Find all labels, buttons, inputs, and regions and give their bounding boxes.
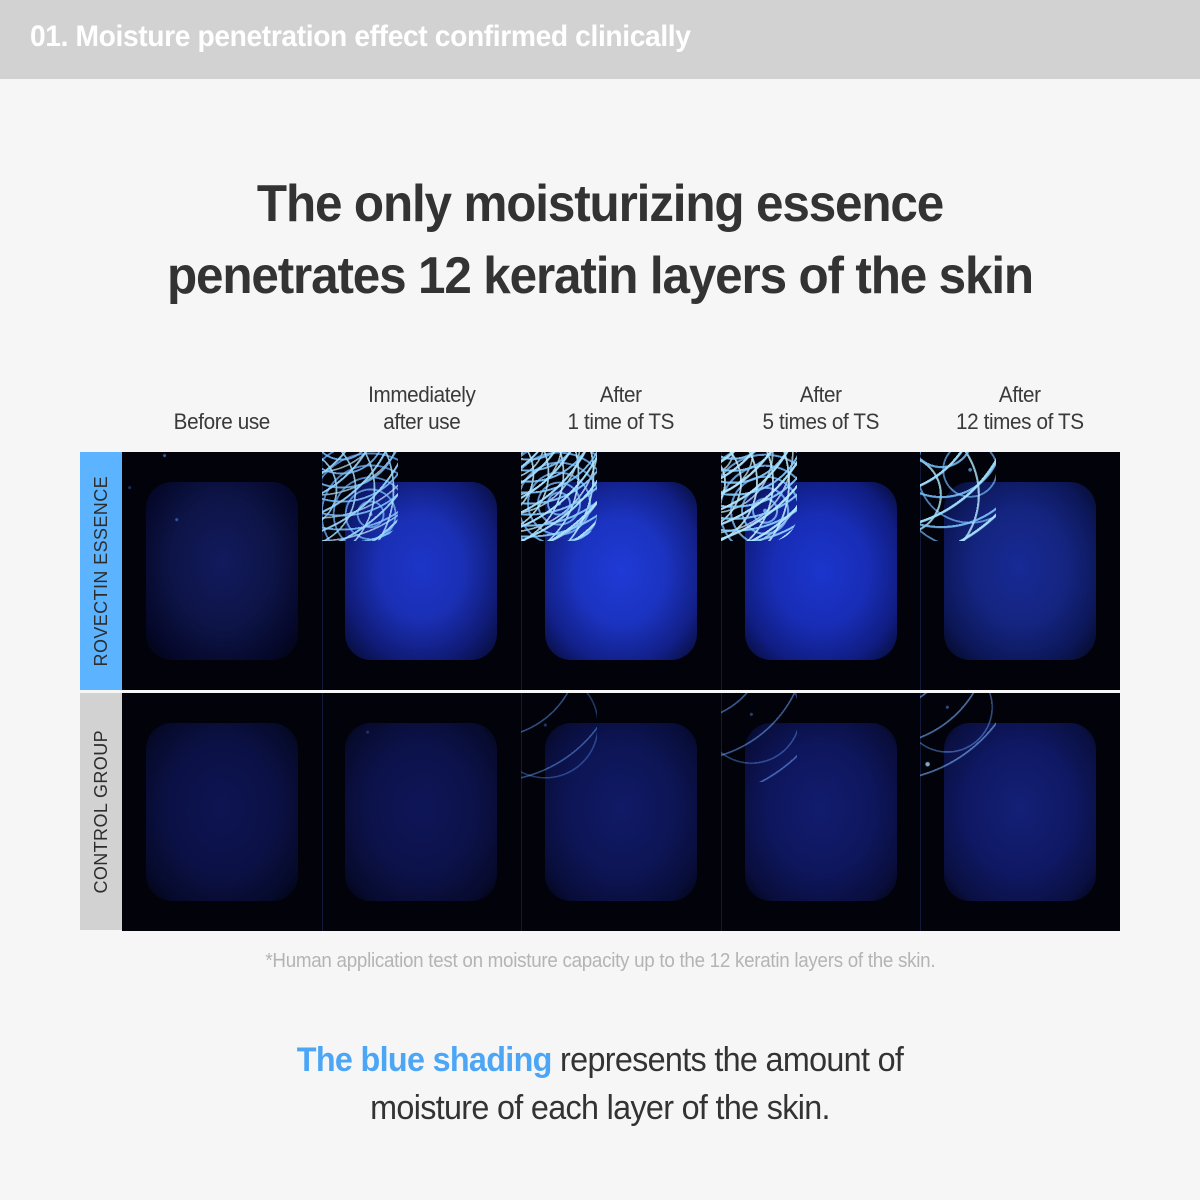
caption-rest: represents the amount of <box>552 1041 903 1079</box>
image-grid <box>122 452 1120 930</box>
fluorescence-speckles <box>521 452 597 541</box>
fluorescence-speckles <box>521 693 597 782</box>
footnote: *Human application test on moisture capa… <box>0 950 1200 973</box>
column-header-immediately-after-use: Immediately after use <box>322 375 522 435</box>
row-label-rovectin-essence: ROVECTIN ESSENCE <box>80 452 122 690</box>
sample-cell <box>521 693 721 931</box>
sample-cell <box>122 452 322 690</box>
column-header-line-1: Immediately <box>328 381 516 408</box>
sample-cell <box>721 693 921 931</box>
fluorescence-speckles <box>721 452 797 541</box>
column-header-after-1-time: After 1 time of TS <box>521 375 721 435</box>
row-label-text: ROVECTIN ESSENCE <box>91 476 112 666</box>
column-header-after-5-times: After 5 times of TS <box>721 375 921 435</box>
fluorescence-image-panel: ROVECTIN ESSENCE CONTROL GROUP <box>80 452 1120 930</box>
sample-cell <box>322 693 522 931</box>
sample-cell <box>122 693 322 931</box>
column-header-line-1: After <box>727 381 915 408</box>
fluorescence-speckles <box>721 693 797 782</box>
headline: The only moisturizing essence penetrates… <box>0 168 1200 312</box>
image-row-rovectin-essence <box>122 452 1120 690</box>
fluorescence-speckles <box>322 693 398 782</box>
row-label-control-group: CONTROL GROUP <box>80 693 122 930</box>
column-header-before-use: Before use <box>122 375 322 435</box>
column-header-row: Before use Immediately after use After 1… <box>122 375 1120 435</box>
fluorescence-speckles <box>920 452 996 541</box>
footnote-text: *Human application test on moisture capa… <box>265 950 935 973</box>
caption-line-2: moisture of each layer of the skin. <box>30 1084 1170 1132</box>
row-label-text: CONTROL GROUP <box>91 730 112 894</box>
column-header-line-1: After <box>527 381 715 408</box>
column-header-line-2: 1 time of TS <box>527 408 715 435</box>
page-title: 01. Moisture penetration effect confirme… <box>30 20 691 54</box>
column-header-after-12-times: After 12 times of TS <box>920 375 1120 435</box>
sample-cell <box>920 693 1120 931</box>
column-header-line-2: 12 times of TS <box>926 408 1114 435</box>
sample-cell <box>920 452 1120 690</box>
caption-line-1: The blue shading represents the amount o… <box>30 1036 1170 1084</box>
caption: The blue shading represents the amount o… <box>0 1036 1200 1132</box>
column-header-line-2: after use <box>328 408 516 435</box>
image-row-control-group <box>122 693 1120 931</box>
sample-cell <box>322 452 522 690</box>
headline-line-2: penetrates 12 keratin layers of the skin <box>30 240 1170 312</box>
headline-line-1: The only moisturizing essence <box>30 168 1170 240</box>
column-header-line-1: After <box>926 381 1114 408</box>
fluorescence-speckles <box>122 452 198 541</box>
fluorescence-speckles <box>920 693 996 782</box>
sample-cell <box>721 452 921 690</box>
sample-cell <box>521 452 721 690</box>
fluorescence-speckles <box>322 452 398 541</box>
fluorescence-speckles <box>122 693 198 782</box>
column-header-line-2: 5 times of TS <box>727 408 915 435</box>
column-header-line-2: Before use <box>128 408 316 435</box>
header-bar: 01. Moisture penetration effect confirme… <box>0 0 1200 79</box>
caption-highlight: The blue shading <box>297 1041 552 1079</box>
